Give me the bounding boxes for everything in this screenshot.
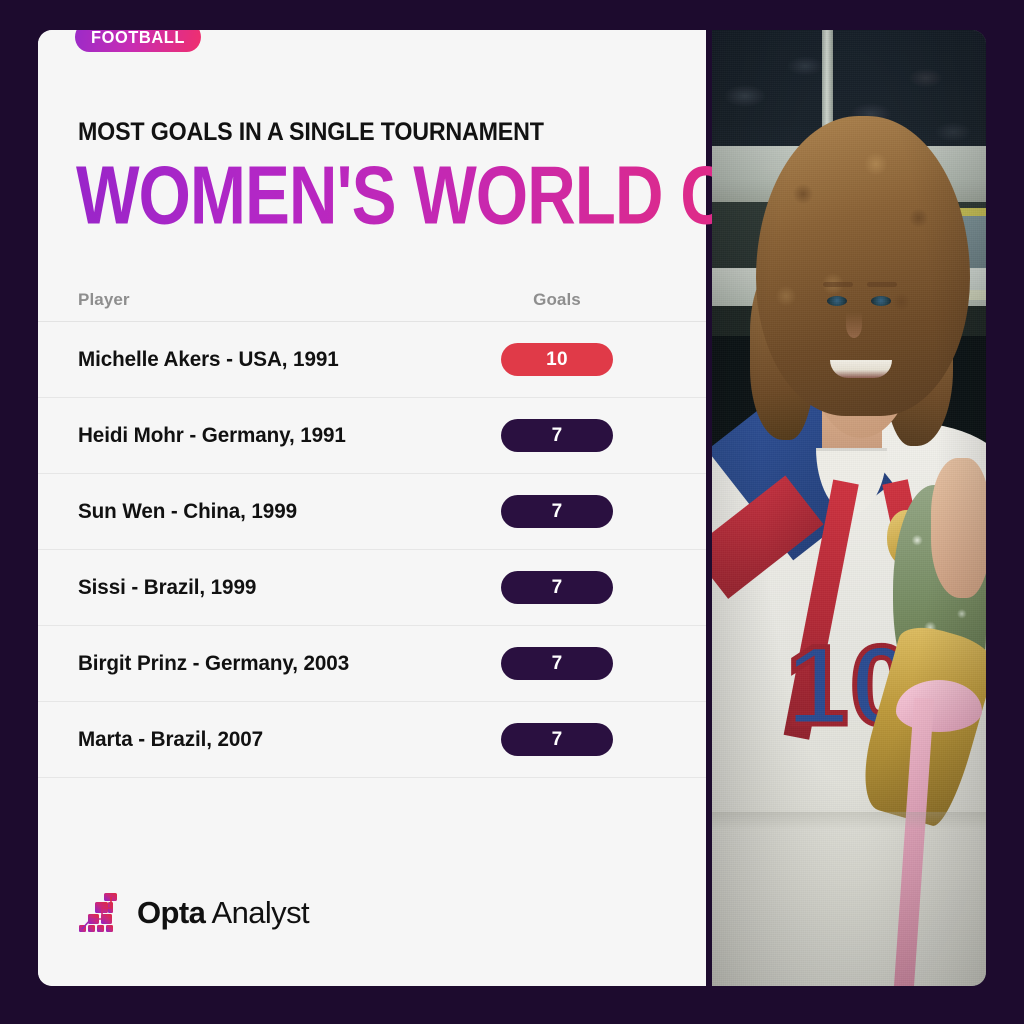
player-name: Marta - Brazil, 2007 xyxy=(78,727,484,752)
goals-pill: 7 xyxy=(501,647,613,680)
infographic-card: FOOTBALL MOST GOALS IN A SINGLE TOURNAME… xyxy=(38,30,986,986)
logo-wordmark: Opta Analyst xyxy=(137,895,309,931)
goals-cell: 7 xyxy=(501,647,613,680)
table-row[interactable]: Sun Wen - China, 1999 7 xyxy=(38,474,706,550)
player-name: Birgit Prinz - Germany, 2003 xyxy=(78,651,484,676)
goals-pill: 7 xyxy=(501,495,613,528)
goals-pill: 10 xyxy=(501,343,613,376)
logo-opta: Opta xyxy=(137,895,205,930)
table-row[interactable]: Sissi - Brazil, 1999 7 xyxy=(38,550,706,626)
stats-table: Player Goals Michelle Akers - USA, 1991 … xyxy=(38,278,706,778)
goals-cell: 7 xyxy=(501,571,613,604)
goals-cell: 10 xyxy=(501,343,613,376)
table-row[interactable]: Birgit Prinz - Germany, 2003 7 xyxy=(38,626,706,702)
player-name: Sun Wen - China, 1999 xyxy=(78,499,484,524)
table-row[interactable]: Marta - Brazil, 2007 7 xyxy=(38,702,706,778)
player-photo: 10 xyxy=(712,30,986,986)
category-badge: FOOTBALL xyxy=(75,30,201,52)
table-row[interactable]: Heidi Mohr - Germany, 1991 7 xyxy=(38,398,706,474)
category-badge-label: FOOTBALL xyxy=(91,30,185,48)
goals-pill: 7 xyxy=(501,723,613,756)
player-name: Heidi Mohr - Germany, 1991 xyxy=(78,423,484,448)
goals-pill: 7 xyxy=(501,419,613,452)
goals-pill: 7 xyxy=(501,571,613,604)
page-subtitle: MOST GOALS IN A SINGLE TOURNAMENT xyxy=(78,118,544,147)
photo-grain-overlay xyxy=(712,30,986,986)
column-header-goals: Goals xyxy=(501,290,613,310)
opta-stairs-icon xyxy=(78,892,124,934)
player-name: Sissi - Brazil, 1999 xyxy=(78,575,484,600)
column-header-player: Player xyxy=(78,290,501,310)
table-header-row: Player Goals xyxy=(38,278,706,322)
goals-cell: 7 xyxy=(501,723,613,756)
logo-analyst: Analyst xyxy=(205,895,309,930)
content-pane: FOOTBALL MOST GOALS IN A SINGLE TOURNAME… xyxy=(38,30,706,986)
goals-cell: 7 xyxy=(501,495,613,528)
opta-analyst-logo[interactable]: Opta Analyst xyxy=(78,892,309,934)
page-title: WOMEN'S WORLD CUP xyxy=(76,154,819,237)
goals-cell: 7 xyxy=(501,419,613,452)
player-name: Michelle Akers - USA, 1991 xyxy=(78,347,484,372)
table-row[interactable]: Michelle Akers - USA, 1991 10 xyxy=(38,322,706,398)
